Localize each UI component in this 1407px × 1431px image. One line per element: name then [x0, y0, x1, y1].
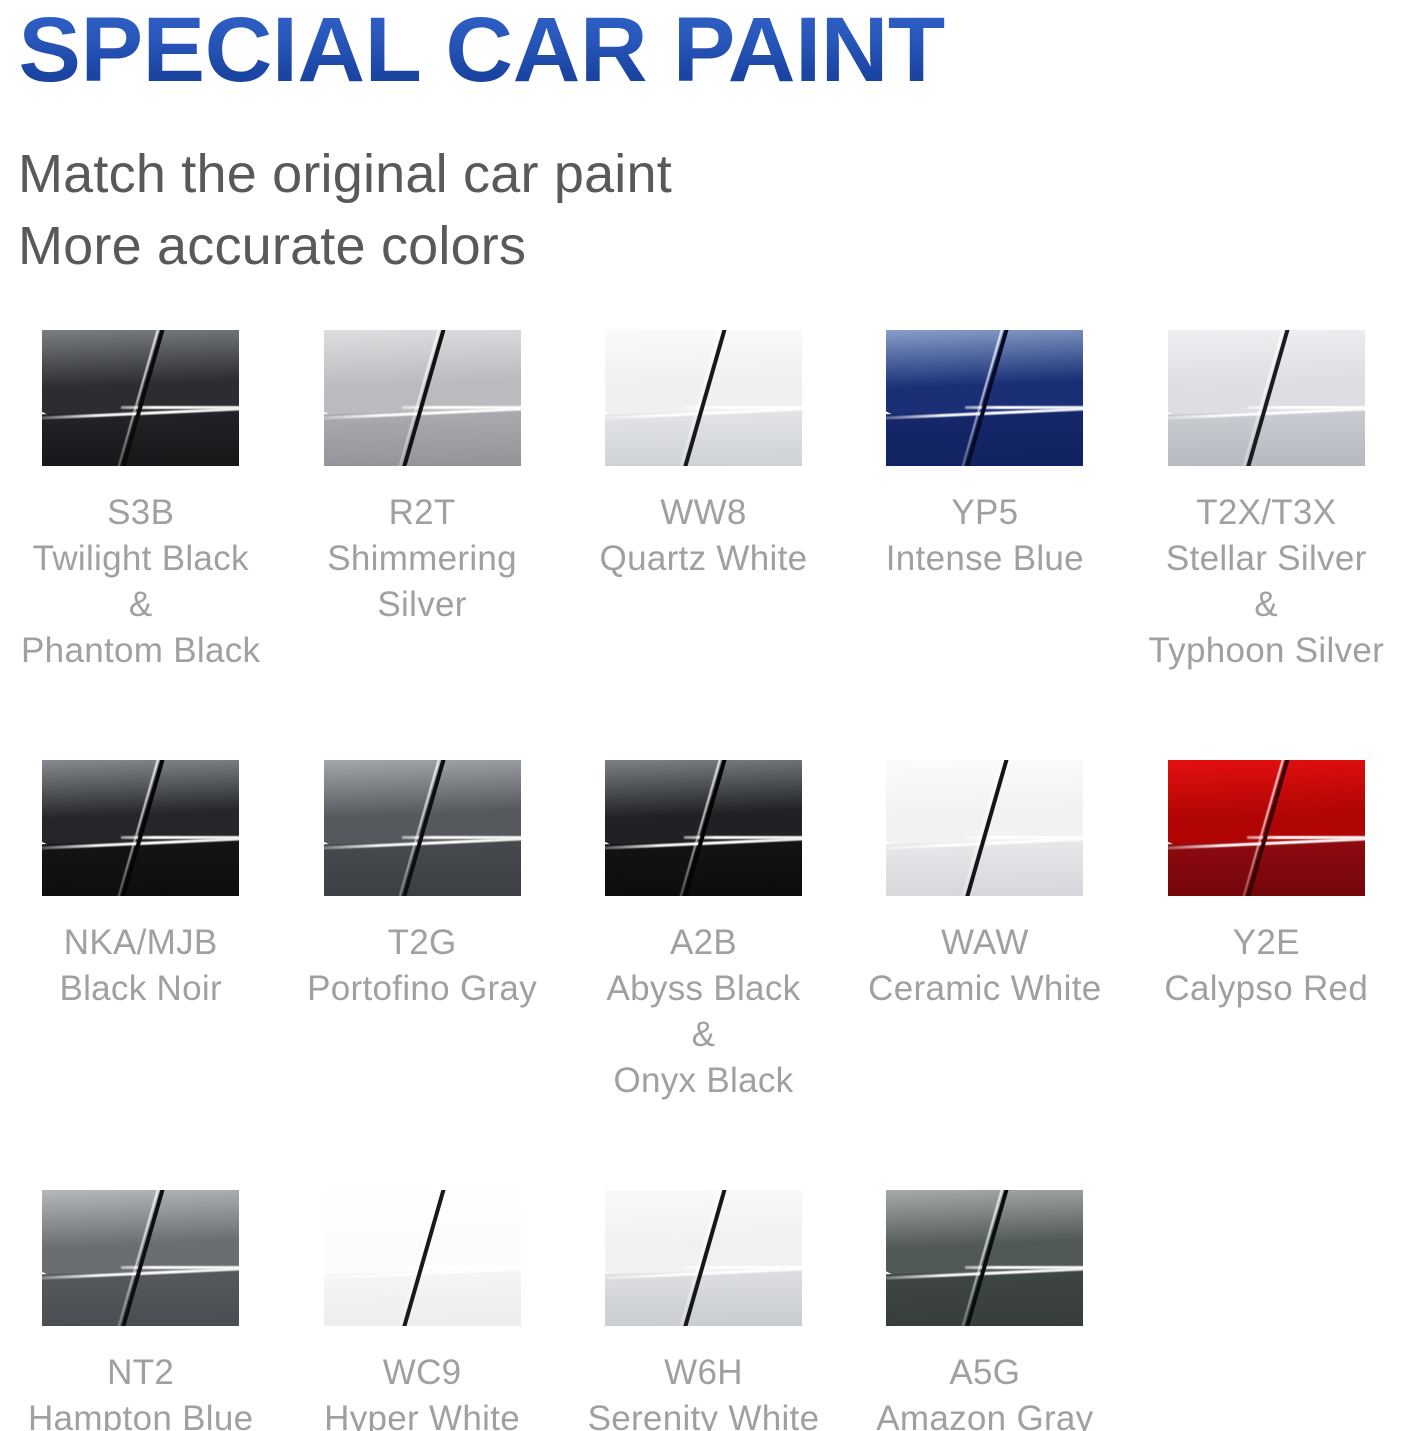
car-panel-swatch-image	[886, 1190, 1083, 1326]
paint-swatch-grid: S3BTwilight Black & Phantom BlackR2TShim…	[0, 330, 1407, 1431]
swatch-paint-name: Portofino Gray	[282, 966, 563, 1012]
swatch-caption: WC9Hyper White	[282, 1350, 563, 1431]
paint-swatch-cell[interactable]: NT2Hampton Blue & Hampton Gray	[0, 1190, 281, 1431]
subtitle-line-1: Match the original car paint	[18, 138, 1407, 210]
car-panel-swatch-image	[42, 1190, 239, 1326]
swatch-caption: S3BTwilight Black & Phantom Black	[0, 490, 281, 674]
swatch-paint-code: T2G	[282, 920, 563, 966]
paint-swatch-cell[interactable]: A2BAbyss Black & Onyx Black	[563, 760, 844, 1104]
swatch-caption: T2X/T3XStellar Silver & Typhoon Silver	[1126, 490, 1407, 674]
swatch-caption: WW8Quartz White	[563, 490, 844, 582]
special-car-paint-page: SPECIAL CAR PAINT Match the original car…	[0, 0, 1407, 1431]
swatch-paint-name: Abyss Black & Onyx Black	[563, 966, 844, 1104]
paint-swatch-cell[interactable]: WW8Quartz White	[563, 330, 844, 582]
car-panel-swatch-image	[324, 330, 521, 466]
swatch-caption: T2GPortofino Gray	[282, 920, 563, 1012]
swatch-row: NKA/MJBBlack NoirT2GPortofino GrayA2BAby…	[0, 760, 1407, 1104]
swatch-paint-code: YP5	[844, 490, 1125, 536]
car-panel-swatch-image	[42, 330, 239, 466]
swatch-row: S3BTwilight Black & Phantom BlackR2TShim…	[0, 330, 1407, 674]
car-panel-swatch-image	[605, 1190, 802, 1326]
swatch-caption: WAWCeramic White	[844, 920, 1125, 1012]
swatch-caption: YP5Intense Blue	[844, 490, 1125, 582]
header: SPECIAL CAR PAINT Match the original car…	[0, 0, 1407, 282]
swatch-paint-code: NT2	[0, 1350, 281, 1396]
swatch-paint-code: W6H	[563, 1350, 844, 1396]
swatch-caption: NT2Hampton Blue & Hampton Gray	[0, 1350, 281, 1431]
swatch-caption: A2BAbyss Black & Onyx Black	[563, 920, 844, 1104]
paint-swatch-cell[interactable]: WAWCeramic White	[844, 760, 1125, 1012]
swatch-paint-code: T2X/T3X	[1126, 490, 1407, 536]
swatch-paint-code: S3B	[0, 490, 281, 536]
swatch-caption: R2TShimmering Silver	[282, 490, 563, 628]
swatch-paint-name: Intense Blue	[844, 536, 1125, 582]
swatch-paint-name: Shimmering Silver	[282, 536, 563, 628]
swatch-paint-code: Y2E	[1126, 920, 1407, 966]
paint-swatch-cell[interactable]: T2GPortofino Gray	[281, 760, 562, 1012]
swatch-caption: W6HSerenity White	[563, 1350, 844, 1431]
swatch-paint-name: Quartz White	[563, 536, 844, 582]
paint-swatch-cell[interactable]: W6HSerenity White	[563, 1190, 844, 1431]
swatch-caption: A5GAmazon Gray	[844, 1350, 1125, 1431]
swatch-paint-name: Hyper White	[282, 1396, 563, 1431]
paint-swatch-cell[interactable]: Y2ECalypso Red	[1126, 760, 1407, 1012]
swatch-paint-code: WW8	[563, 490, 844, 536]
car-panel-swatch-image	[886, 330, 1083, 466]
swatch-paint-name: Stellar Silver & Typhoon Silver	[1126, 536, 1407, 674]
car-panel-swatch-image	[42, 760, 239, 896]
paint-swatch-cell[interactable]: R2TShimmering Silver	[281, 330, 562, 628]
swatch-caption: Y2ECalypso Red	[1126, 920, 1407, 1012]
car-panel-swatch-image	[1168, 330, 1365, 466]
paint-swatch-cell[interactable]: A5GAmazon Gray	[844, 1190, 1125, 1431]
paint-swatch-cell[interactable]: NKA/MJBBlack Noir	[0, 760, 281, 1012]
swatch-paint-code: A2B	[563, 920, 844, 966]
swatch-paint-code: WAW	[844, 920, 1125, 966]
swatch-paint-code: R2T	[282, 490, 563, 536]
swatch-paint-name: Twilight Black & Phantom Black	[0, 536, 281, 674]
swatch-paint-code: NKA/MJB	[0, 920, 281, 966]
car-panel-swatch-image	[605, 330, 802, 466]
swatch-caption: NKA/MJBBlack Noir	[0, 920, 281, 1012]
swatch-paint-name: Calypso Red	[1126, 966, 1407, 1012]
car-panel-swatch-image	[324, 1190, 521, 1326]
paint-swatch-cell[interactable]: YP5Intense Blue	[844, 330, 1125, 582]
subtitle-block: Match the original car paint More accura…	[0, 96, 1407, 282]
swatch-paint-code: A5G	[844, 1350, 1125, 1396]
page-title: SPECIAL CAR PAINT	[0, 0, 1407, 96]
swatch-paint-name: Amazon Gray	[844, 1396, 1125, 1431]
swatch-paint-name: Hampton Blue & Hampton Gray	[0, 1396, 281, 1431]
subtitle-line-2: More accurate colors	[18, 210, 1407, 282]
swatch-row: NT2Hampton Blue & Hampton GrayWC9Hyper W…	[0, 1190, 1407, 1431]
paint-swatch-cell[interactable]: S3BTwilight Black & Phantom Black	[0, 330, 281, 674]
car-panel-swatch-image	[1168, 760, 1365, 896]
car-panel-swatch-image	[886, 760, 1083, 896]
paint-swatch-cell[interactable]: WC9Hyper White	[281, 1190, 562, 1431]
paint-swatch-cell[interactable]: T2X/T3XStellar Silver & Typhoon Silver	[1126, 330, 1407, 674]
car-panel-swatch-image	[605, 760, 802, 896]
car-panel-swatch-image	[324, 760, 521, 896]
swatch-paint-name: Serenity White	[563, 1396, 844, 1431]
swatch-paint-name: Black Noir	[0, 966, 281, 1012]
swatch-paint-code: WC9	[282, 1350, 563, 1396]
swatch-paint-name: Ceramic White	[844, 966, 1125, 1012]
